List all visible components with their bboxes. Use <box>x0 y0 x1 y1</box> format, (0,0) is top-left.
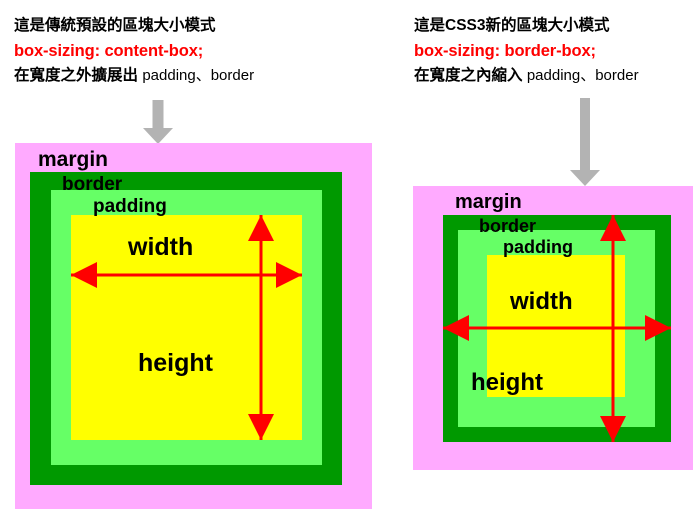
width-measure-arrow <box>443 315 671 341</box>
panel-content-box: 這是傳統預設的區塊大小模式 box-sizing: content-box; 在… <box>0 0 395 514</box>
caption-content-box: 這是傳統預設的區塊大小模式 box-sizing: content-box; 在… <box>14 18 254 93</box>
caption-line-3-bold: 在寬度之內縮入 <box>414 67 523 84</box>
caption-line-1: 這是CSS3新的區塊大小模式 <box>414 18 639 34</box>
width-label: width <box>128 235 193 260</box>
border-label: border <box>479 217 536 235</box>
padding-label: padding <box>503 238 573 256</box>
height-measure-arrow <box>600 215 626 442</box>
width-arrow-tip-left <box>71 262 97 288</box>
margin-label: margin <box>455 192 522 212</box>
down-arrow-shaft <box>580 98 590 170</box>
width-arrow-tip-right <box>276 262 302 288</box>
caption-line-3-thin: padding、border <box>142 67 254 84</box>
margin-label: margin <box>38 149 108 170</box>
down-arrow-icon <box>571 98 599 186</box>
down-arrow-head <box>570 170 600 186</box>
caption-border-box: 這是CSS3新的區塊大小模式 box-sizing: border-box; 在… <box>414 18 639 93</box>
width-arrow-tip-left <box>443 315 469 341</box>
height-arrow-tip-top <box>600 215 626 241</box>
border-label: border <box>62 175 122 194</box>
caption-line-3: 在寬度之外擴展出 padding、border <box>14 68 254 84</box>
height-arrow-tip-top <box>248 215 274 241</box>
width-arrow-line <box>443 327 671 330</box>
height-arrow-tip-bottom <box>248 414 274 440</box>
caption-line-3-thin: padding、border <box>527 67 639 84</box>
caption-code-declaration: box-sizing: content-box; <box>14 43 254 60</box>
height-arrow-line <box>612 215 615 442</box>
height-arrow-tip-bottom <box>600 416 626 442</box>
caption-line-3: 在寬度之內縮入 padding、border <box>414 68 639 84</box>
down-arrow-icon <box>143 100 173 144</box>
width-arrow-tip-right <box>645 315 671 341</box>
height-label: height <box>471 371 543 395</box>
caption-line-3-bold: 在寬度之外擴展出 <box>14 67 138 84</box>
panel-border-box: 這是CSS3新的區塊大小模式 box-sizing: border-box; 在… <box>400 0 700 514</box>
caption-line-1: 這是傳統預設的區塊大小模式 <box>14 18 254 34</box>
down-arrow-shaft <box>153 100 164 129</box>
height-label: height <box>138 351 213 376</box>
caption-code-declaration: box-sizing: border-box; <box>414 43 639 60</box>
down-arrow-head <box>143 128 173 144</box>
width-label: width <box>510 290 573 314</box>
padding-label: padding <box>93 197 167 216</box>
box-model-diagram-border-box: margin border padding width height <box>413 186 693 470</box>
box-model-diagram-content-box: margin border padding width height <box>15 143 372 509</box>
height-arrow-line <box>260 215 263 440</box>
height-measure-arrow <box>248 215 274 440</box>
